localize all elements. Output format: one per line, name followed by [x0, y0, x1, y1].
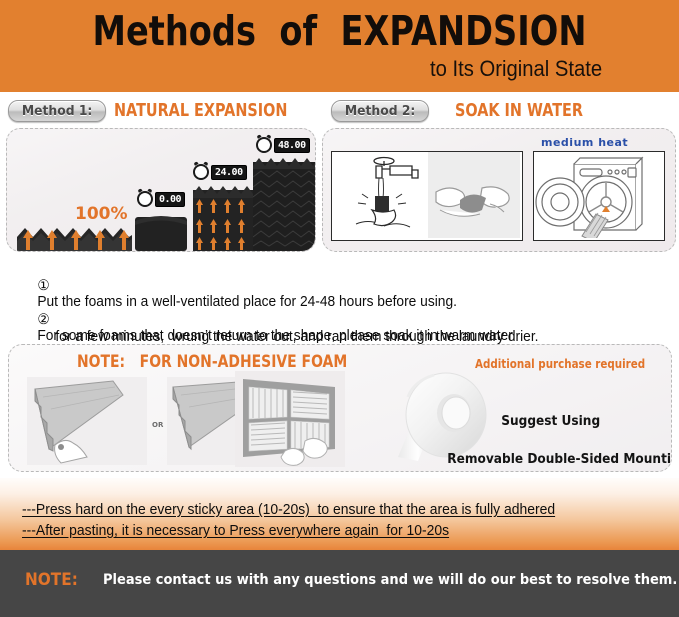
additional-purchase-label: Additional purchase required [475, 357, 645, 371]
timer-24: 24.00 [193, 164, 247, 180]
timer-48: 48.00 [256, 137, 310, 153]
method-2-title: SOAK IN WATER [455, 100, 583, 121]
header-banner: Methods of EXPANDSION to Its Original St… [0, 0, 679, 92]
suggest-line-2: Removable Double-Sided Mounting Tape [447, 451, 672, 467]
method-1-badge-label: Method 1: [22, 104, 93, 119]
footer-note-label: NOTE: [25, 570, 78, 590]
press-line-2: ---After pasting, it is necessary to Pre… [22, 523, 449, 539]
method-1-title: NATURAL EXPANSION [114, 100, 287, 121]
footer-bar: NOTE: Please contact us with any questio… [0, 550, 679, 617]
suggest-line-1: Suggest Using [501, 413, 600, 429]
timer-48-value: 48.00 [274, 138, 310, 153]
foam-panel-icon [27, 377, 147, 470]
foam-partial-icon [193, 184, 253, 252]
foam-full-icon [253, 157, 315, 252]
infographic-page: Methods of EXPANDSION to Its Original St… [0, 0, 679, 617]
note-panel-title: NOTE: FOR NON-ADHESIVE FOAM [77, 352, 347, 372]
method-1-badge: Method 1: [8, 100, 106, 122]
medium-heat-label: medium heat [541, 136, 628, 149]
alarm-clock-icon [193, 164, 209, 180]
wall-panels-icon [235, 371, 345, 472]
footer-message: Please contact us with any questions and… [103, 572, 677, 588]
page-title: Methods of EXPANDSION [61, 8, 618, 54]
or-label: OR [152, 421, 163, 429]
soak-illustration [331, 151, 523, 241]
timer-24-value: 24.00 [211, 165, 247, 180]
instruction-2-line2: for a few minutes, wrung the water out, … [55, 329, 538, 345]
timer-0-value: 0.00 [155, 192, 185, 207]
timer-0: 0.00 [137, 191, 185, 207]
note-panel: NOTE: FOR NON-ADHESIVE FOAM [8, 344, 672, 472]
alarm-clock-icon [137, 191, 153, 207]
density-percent: 100% [75, 204, 128, 224]
method-2-badge-label: Method 2: [345, 104, 416, 119]
method-2-badge: Method 2: [331, 100, 429, 122]
foam-compressed-icon [135, 211, 187, 252]
page-subtitle: to Its Original State [430, 56, 602, 82]
alarm-clock-icon [256, 137, 272, 153]
method-2-panel: medium heat [322, 128, 676, 252]
suggest-text: Suggest Using Removable Double-Sided Mou… [422, 393, 654, 472]
dryer-illustration [533, 151, 665, 241]
method-1-panel: 100% High Density New PolymerRebound Mat… [6, 128, 316, 252]
instruction-1-marker: ① [37, 278, 49, 294]
press-instructions-band: ---Press hard on the every sticky area (… [0, 478, 679, 550]
press-line-1: ---Press hard on the every sticky area (… [22, 502, 555, 518]
foam-expanded-left-icon [17, 227, 132, 251]
